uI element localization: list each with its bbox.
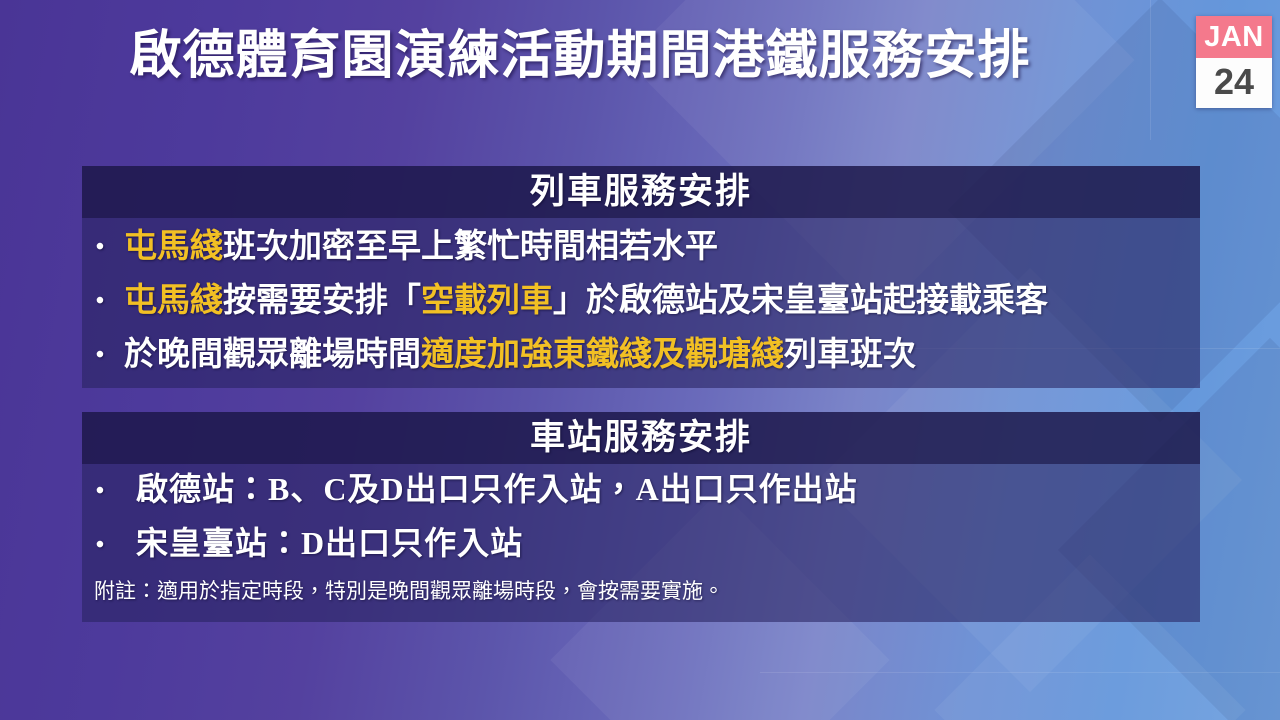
bullet-text-segment: 班次加密至早上繁忙時間相若水平 (223, 229, 718, 265)
bullet-text-highlight: 屯馬綫 (124, 283, 223, 319)
panel-station-service-header: 車站服務安排 (82, 412, 1200, 464)
bullet-item: •於晚間觀眾離場時間適度加強東鐵綫及觀塘綫列車班次 (82, 328, 1200, 382)
bullet-item: •屯馬綫按需要安排「空載列車」於啟德站及宋皇臺站起接載乘客 (82, 274, 1200, 328)
bullet-dot-icon: • (82, 518, 118, 572)
bullet-text-segment: 」於啟德站及宋皇臺站起接載乘客 (553, 283, 1048, 319)
bullet-dot-icon: • (82, 328, 118, 382)
bullet-text: 於晚間觀眾離場時間適度加強東鐵綫及觀塘綫列車班次 (118, 328, 1200, 382)
page-title: 啟德體育園演練活動期間港鐵服務安排 (0, 26, 1160, 88)
bullet-text: 屯馬綫按需要安排「空載列車」於啟德站及宋皇臺站起接載乘客 (118, 274, 1200, 328)
poly-edge-line (760, 672, 1280, 673)
station-service-footnote: 附註：適用於指定時段，特別是晚間觀眾離場時段，會按需要實施。 (82, 576, 1200, 606)
bullet-text: 宋皇臺站：D出口只作入站 (118, 518, 1200, 568)
bullet-text-segment: 列車班次 (784, 337, 916, 373)
bullet-text-highlight: 適度加強東鐵綫及觀塘綫 (421, 337, 784, 373)
bullet-text: 啟德站：B、C及D出口只作入站，A出口只作出站 (118, 464, 1200, 514)
bullet-item: •屯馬綫班次加密至早上繁忙時間相若水平 (82, 220, 1200, 274)
bullet-text-highlight: 屯馬綫 (124, 229, 223, 265)
bullet-text-segment: 啟德站：B、C及D出口只作入站，A出口只作出站 (136, 471, 858, 507)
bullet-dot-icon: • (82, 464, 118, 518)
train-service-bullet-list: •屯馬綫班次加密至早上繁忙時間相若水平•屯馬綫按需要安排「空載列車」於啟德站及宋… (82, 220, 1200, 382)
bullet-dot-icon: • (82, 274, 118, 328)
bullet-text-highlight: 空載列車 (421, 283, 553, 319)
slide-root: 啟德體育園演練活動期間港鐵服務安排 JAN 24 列車服務安排 •屯馬綫班次加密… (0, 0, 1280, 720)
bullet-text-segment: 按需要安排「 (223, 283, 421, 319)
bullet-item: •宋皇臺站：D出口只作入站 (82, 518, 1200, 572)
station-service-bullet-list: •啟德站：B、C及D出口只作入站，A出口只作出站•宋皇臺站：D出口只作入站 (82, 464, 1200, 572)
bullet-text: 屯馬綫班次加密至早上繁忙時間相若水平 (118, 220, 1200, 274)
panel-train-service-header: 列車服務安排 (82, 166, 1200, 218)
bullet-item: •啟德站：B、C及D出口只作入站，A出口只作出站 (82, 464, 1200, 518)
panel-station-service: 車站服務安排 •啟德站：B、C及D出口只作入站，A出口只作出站•宋皇臺站：D出口… (82, 412, 1200, 622)
bullet-text-segment: 宋皇臺站：D出口只作入站 (136, 525, 523, 561)
bullet-dot-icon: • (82, 220, 118, 274)
date-badge: JAN 24 (1196, 16, 1272, 108)
bullet-text-segment: 於晚間觀眾離場時間 (124, 337, 421, 373)
title-row: 啟德體育園演練活動期間港鐵服務安排 (0, 0, 1280, 128)
date-badge-month: JAN (1196, 16, 1272, 58)
panel-train-service: 列車服務安排 •屯馬綫班次加密至早上繁忙時間相若水平•屯馬綫按需要安排「空載列車… (82, 166, 1200, 388)
date-badge-day: 24 (1196, 58, 1272, 108)
